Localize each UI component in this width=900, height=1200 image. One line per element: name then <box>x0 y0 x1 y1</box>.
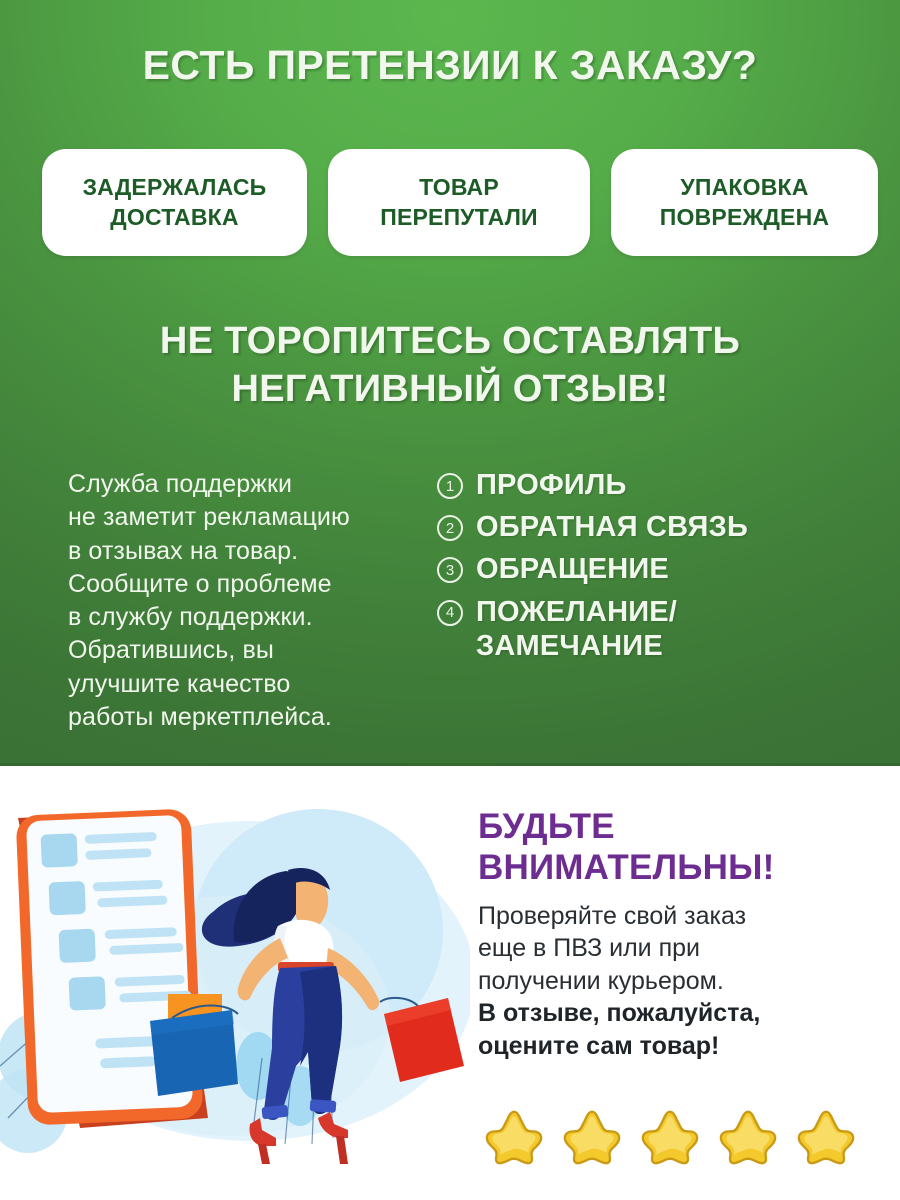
star-icon[interactable] <box>796 1108 856 1166</box>
bottom-paragraph: Проверяйте свой заказ еще в ПВЗ или при … <box>478 900 878 1063</box>
promo-poster: ЕСТЬ ПРЕТЕНЗИИ К ЗАКАЗУ? ЗАДЕРЖАЛАСЬ ДОС… <box>0 0 900 1200</box>
step-item-3: 3 ОБРАЩЕНИЕ <box>437 552 867 586</box>
step-number-3: 3 <box>437 557 463 583</box>
card-damaged-package[interactable]: УПАКОВКА ПОВРЕЖДЕНА <box>611 149 878 256</box>
page-title: ЕСТЬ ПРЕТЕНЗИИ К ЗАКАЗУ? <box>0 42 900 89</box>
support-paragraph-line3: в отзывах на товар. <box>68 535 398 568</box>
step-label-1: ПРОФИЛЬ <box>476 468 627 502</box>
bottom-paragraph-line3: получении курьером. <box>478 965 878 998</box>
step-label-4-line2: ЗАМЕЧАНИЕ <box>476 629 677 663</box>
bottom-text-block: БУДЬТЕ ВНИМАТЕЛЬНЫ! Проверяйте свой зака… <box>478 806 878 1062</box>
bottom-paragraph-line2: еще в ПВЗ или при <box>478 932 878 965</box>
main-headline-line1: НЕ ТОРОПИТЕСЬ ОСТАВЛЯТЬ <box>0 317 900 365</box>
bottom-paragraph-line5: оцените сам товар! <box>478 1030 878 1063</box>
bottom-title-line2: ВНИМАТЕЛЬНЫ! <box>478 847 878 888</box>
step-label-2: ОБРАТНАЯ СВЯЗЬ <box>476 510 748 544</box>
step-item-2: 2 ОБРАТНАЯ СВЯЗЬ <box>437 510 867 544</box>
support-paragraph-line5: в службу поддержки. <box>68 601 398 634</box>
support-paragraph-line2: не заметит рекламацию <box>68 501 398 534</box>
step-number-1: 1 <box>437 473 463 499</box>
step-item-1: 1 ПРОФИЛЬ <box>437 468 867 502</box>
step-label-2-line1: ОБРАТНАЯ СВЯЗЬ <box>476 510 748 544</box>
support-paragraph-line7: улучшите качество <box>68 668 398 701</box>
step-label-4: ПОЖЕЛАНИЕ/ ЗАМЕЧАНИЕ <box>476 595 677 663</box>
support-paragraph: Служба поддержки не заметит рекламацию в… <box>68 468 398 734</box>
support-paragraph-line6: Обратившись, вы <box>68 634 398 667</box>
card-damaged-package-line2: ПОВРЕЖДЕНА <box>660 203 829 233</box>
step-label-3: ОБРАЩЕНИЕ <box>476 552 669 586</box>
step-label-1-line1: ПРОФИЛЬ <box>476 468 627 502</box>
bottom-title-line1: БУДЬТЕ <box>478 806 878 847</box>
step-label-3-line1: ОБРАЩЕНИЕ <box>476 552 669 586</box>
steps-list: 1 ПРОФИЛЬ 2 ОБРАТНАЯ СВЯЗЬ 3 ОБРАЩЕНИЕ 4 <box>437 468 867 671</box>
support-paragraph-line8: работы меркетплейса. <box>68 701 398 734</box>
card-delayed-delivery-line2: ДОСТАВКА <box>83 203 267 233</box>
step-number-2: 2 <box>437 515 463 541</box>
main-headline-line2: НЕГАТИВНЫЙ ОТЗЫВ! <box>0 365 900 413</box>
star-icon[interactable] <box>484 1108 544 1166</box>
step-number-4: 4 <box>437 600 463 626</box>
bottom-paragraph-line4: В отзыве, пожалуйста, <box>478 997 878 1030</box>
card-wrong-item-line2: ПЕРЕПУТАЛИ <box>380 203 538 233</box>
star-icon[interactable] <box>640 1108 700 1166</box>
step-label-4-line1: ПОЖЕЛАНИЕ/ <box>476 595 677 629</box>
star-rating[interactable] <box>484 1108 874 1166</box>
card-delayed-delivery[interactable]: ЗАДЕРЖАЛАСЬ ДОСТАВКА <box>42 149 307 256</box>
bottom-paragraph-line1: Проверяйте свой заказ <box>478 900 878 933</box>
support-paragraph-line4: Сообщите о проблеме <box>68 568 398 601</box>
star-icon[interactable] <box>562 1108 622 1166</box>
step-item-4: 4 ПОЖЕЛАНИЕ/ ЗАМЕЧАНИЕ <box>437 595 867 663</box>
support-paragraph-line1: Служба поддержки <box>68 468 398 501</box>
green-section: ЕСТЬ ПРЕТЕНЗИИ К ЗАКАЗУ? ЗАДЕРЖАЛАСЬ ДОС… <box>0 0 900 766</box>
shopping-woman-illustration <box>0 766 470 1200</box>
bottom-title: БУДЬТЕ ВНИМАТЕЛЬНЫ! <box>478 806 878 889</box>
card-wrong-item[interactable]: ТОВАР ПЕРЕПУТАЛИ <box>328 149 590 256</box>
claim-reason-cards: ЗАДЕРЖАЛАСЬ ДОСТАВКА ТОВАР ПЕРЕПУТАЛИ УП… <box>42 149 878 256</box>
main-headline: НЕ ТОРОПИТЕСЬ ОСТАВЛЯТЬ НЕГАТИВНЫЙ ОТЗЫВ… <box>0 317 900 414</box>
card-wrong-item-line1: ТОВАР <box>380 173 538 203</box>
card-delayed-delivery-line1: ЗАДЕРЖАЛАСЬ <box>83 173 267 203</box>
card-damaged-package-line1: УПАКОВКА <box>660 173 829 203</box>
star-icon[interactable] <box>718 1108 778 1166</box>
